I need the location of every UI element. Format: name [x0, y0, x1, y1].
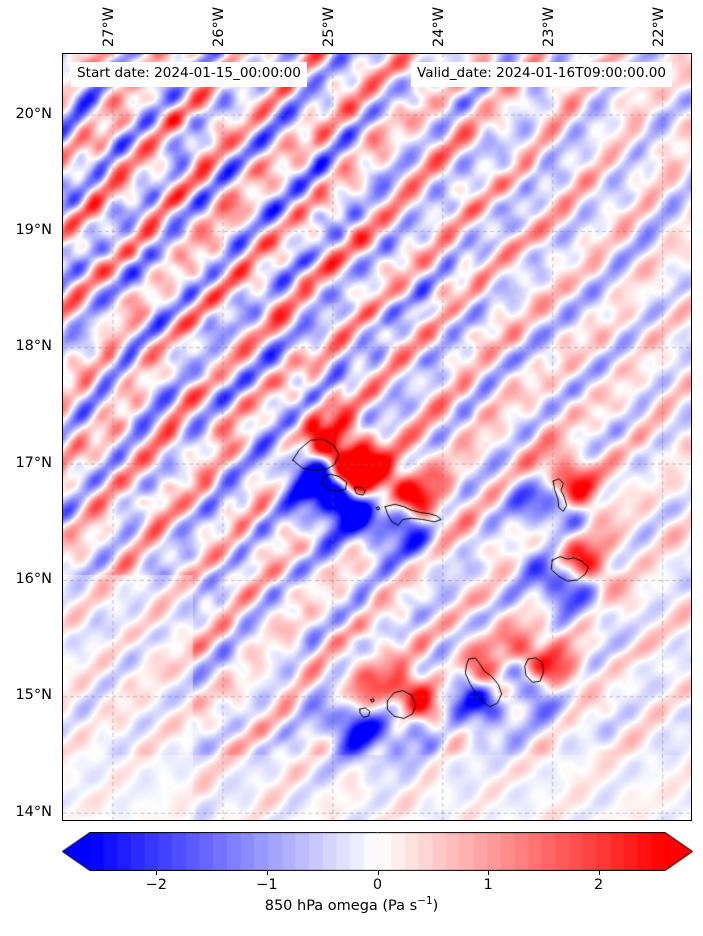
colorbar-label-exponent: −1 [417, 895, 432, 907]
map-plot-area[interactable]: Start date: 2024-01-15_00:00:00 Valid_da… [62, 53, 692, 821]
longitude-tick-22°W: 22°W [651, 7, 667, 47]
figure-canvas: 27°W26°W25°W24°W23°W22°W 14°N15°N16°N17°… [0, 0, 703, 936]
latitude-tick-18°N: 18°N [15, 338, 52, 354]
island-coastlines [63, 54, 692, 821]
latitude-tick-17°N: 17°N [15, 455, 52, 471]
latitude-tick-19°N: 19°N [15, 222, 52, 238]
colorbar-gradient [62, 832, 693, 871]
colorbar-tick-label-1: −1 [256, 877, 277, 893]
latitude-tick-16°N: 16°N [15, 571, 52, 587]
valid-date-annotation: Valid_date: 2024-01-16T09:00:00.00 [411, 62, 672, 87]
colorbar-label-prefix: 850 hPa omega (Pa s [265, 898, 417, 914]
longitude-tick-23°W: 23°W [541, 7, 557, 47]
colorbar-tick-label-2: 0 [373, 877, 382, 893]
latitude-tick-15°N: 15°N [15, 687, 52, 703]
latitude-tick-14°N: 14°N [15, 804, 52, 820]
latitude-tick-labels: 14°N15°N16°N17°N18°N19°N20°N [0, 0, 58, 936]
colorbar-tickmark-1 [267, 871, 268, 875]
longitude-tick-24°W: 24°W [431, 7, 447, 47]
colorbar-label-suffix: ) [433, 898, 439, 914]
colorbar[interactable] [90, 832, 665, 871]
latitude-tick-20°N: 20°N [15, 106, 52, 122]
colorbar-axis-label: 850 hPa omega (Pa s−1) [0, 895, 703, 914]
colorbar-tickmark-3 [488, 871, 489, 875]
longitude-tick-27°W: 27°W [101, 7, 117, 47]
colorbar-tickmark-2 [378, 871, 379, 875]
colorbar-tick-label-4: 2 [594, 877, 603, 893]
longitude-tick-26°W: 26°W [211, 7, 227, 47]
longitude-tick-25°W: 25°W [321, 7, 337, 47]
colorbar-tick-label-3: 1 [483, 877, 492, 893]
longitude-tick-labels: 27°W26°W25°W24°W23°W22°W [0, 0, 703, 53]
colorbar-tickmark-0 [156, 871, 157, 875]
colorbar-tickmark-4 [599, 871, 600, 875]
colorbar-tick-label-0: −2 [146, 877, 167, 893]
start-date-annotation: Start date: 2024-01-15_00:00:00 [71, 62, 307, 87]
